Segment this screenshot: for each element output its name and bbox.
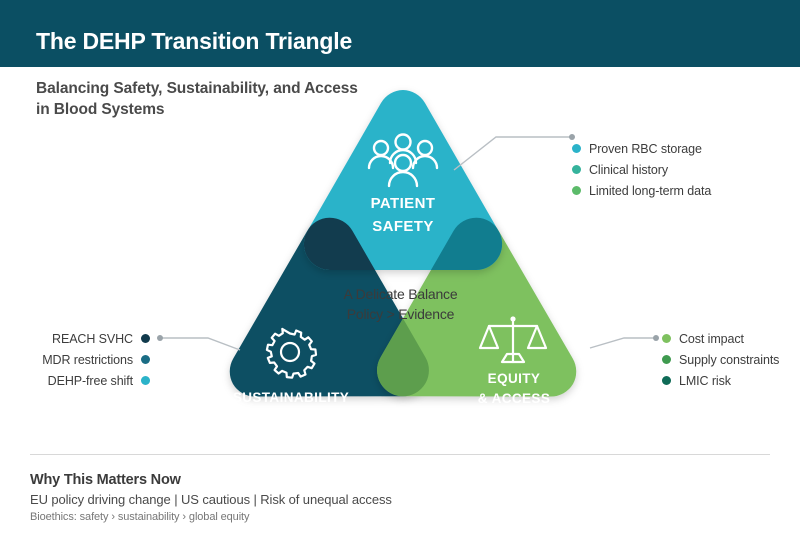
- legend-item[interactable]: Proven RBC storage: [572, 138, 711, 159]
- legend-label: REACH SVHC: [52, 332, 133, 346]
- footer-divider: [30, 454, 770, 455]
- triangle-label-sustainability: SUSTAINABILITY: [233, 390, 349, 405]
- triangle-label-equity-line2: & ACCESS: [478, 391, 550, 406]
- legend-label: DEHP-free shift: [48, 374, 133, 388]
- legend-dot: [141, 334, 150, 343]
- triangle-diagram: PATIENT SAFETY SUSTAINABILITY: [178, 70, 628, 450]
- legend-dot: [141, 376, 150, 385]
- legend-item[interactable]: MDR restrictions: [22, 349, 150, 370]
- legend-item[interactable]: Clinical history: [572, 159, 711, 180]
- legend-sustainability: REACH SVHC MDR restrictions DEHP-free sh…: [22, 328, 150, 391]
- legend-item[interactable]: REACH SVHC: [22, 328, 150, 349]
- legend-label: MDR restrictions: [42, 353, 133, 367]
- legend-dot: [662, 376, 671, 385]
- legend-patient-safety: Proven RBC storage Clinical history Limi…: [572, 138, 711, 201]
- center-line-2: Policy > Evidence: [318, 305, 483, 325]
- center-line-1: A Delicate Balance: [318, 285, 483, 305]
- infographic-page: The DEHP Transition Triangle Balancing S…: [0, 0, 800, 547]
- legend-item[interactable]: Supply constraints: [662, 349, 779, 370]
- triangle-label-equity-line1: EQUITY: [488, 371, 541, 386]
- legend-item[interactable]: Cost impact: [662, 328, 779, 349]
- legend-dot: [572, 144, 581, 153]
- legend-dot: [141, 355, 150, 364]
- legend-dot: [662, 334, 671, 343]
- legend-label: Cost impact: [679, 332, 744, 346]
- page-title: The DEHP Transition Triangle: [36, 28, 352, 55]
- footer-points: EU policy driving change | US cautious |…: [30, 492, 392, 507]
- legend-item[interactable]: DEHP-free shift: [22, 370, 150, 391]
- legend-item[interactable]: LMIC risk: [662, 370, 779, 391]
- footer-heading: Why This Matters Now: [30, 472, 181, 488]
- center-balance-text: A Delicate Balance Policy > Evidence: [318, 285, 483, 325]
- legend-dot: [662, 355, 671, 364]
- triangle-label-patient-safety-line1: PATIENT: [371, 195, 436, 212]
- legend-dot: [572, 186, 581, 195]
- legend-label: Limited long-term data: [589, 184, 711, 198]
- footer-subnote: Bioethics: safety › sustainability › glo…: [30, 511, 249, 523]
- legend-dot: [572, 165, 581, 174]
- legend-label: Proven RBC storage: [589, 142, 702, 156]
- legend-label: Supply constraints: [679, 353, 779, 367]
- triangle-label-patient-safety-line2: SAFETY: [372, 218, 434, 235]
- legend-item[interactable]: Limited long-term data: [572, 180, 711, 201]
- legend-label: Clinical history: [589, 163, 668, 177]
- legend-equity-access: Cost impact Supply constraints LMIC risk: [662, 328, 779, 391]
- legend-label: LMIC risk: [679, 374, 731, 388]
